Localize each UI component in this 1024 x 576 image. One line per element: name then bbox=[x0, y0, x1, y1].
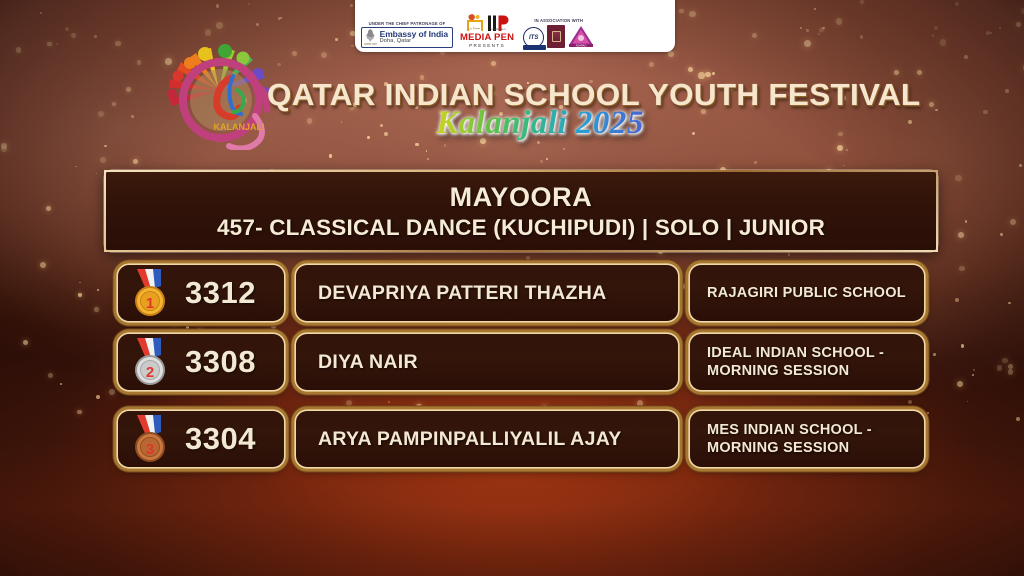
participant-name: DIYA NAIR bbox=[318, 351, 418, 374]
gold-medal-icon: 1 bbox=[128, 268, 174, 318]
silver-medal-icon: 2 bbox=[128, 337, 174, 387]
rank-card: 2 3308 bbox=[118, 334, 284, 390]
table-row: 3 3304 ARYA PAMPINPALLIYALIL AJAY MES IN… bbox=[118, 411, 924, 467]
event-header-card: MAYOORA 457- CLASSICAL DANCE (KUCHIPUDI)… bbox=[104, 170, 938, 252]
school-card: RAJAGIRI PUBLIC SCHOOL bbox=[690, 265, 924, 321]
school-card: IDEAL INDIAN SCHOOL - MORNING SESSION bbox=[690, 334, 924, 390]
association-block: IN ASSOCIATION WITH ITS ASHRAO bbox=[523, 18, 594, 48]
media-pen-arabic-icon: ميديا بن bbox=[464, 14, 484, 33]
svg-text:2: 2 bbox=[146, 364, 154, 381]
association-logos: ITS ASHRAO bbox=[523, 25, 594, 48]
embassy-motto: सत्यमेव जयते bbox=[364, 42, 377, 46]
participant-code: 3308 bbox=[185, 344, 256, 380]
table-row: 1 3312 DEVAPRIYA PATTERI THAZHA RAJAGIRI… bbox=[118, 265, 924, 321]
kalanjali-logo-icon: KALANJALI bbox=[163, 44, 279, 150]
india-emblem-icon bbox=[365, 29, 376, 42]
ashrao-logo-icon: ASHRAO bbox=[568, 25, 594, 48]
participant-card: ARYA PAMPINPALLIYALIL AJAY bbox=[296, 411, 678, 467]
svg-text:media pen: media pen bbox=[492, 27, 506, 31]
page-subtitle: Kalanjali 2025 bbox=[275, 105, 805, 142]
association-caption: IN ASSOCIATION WITH bbox=[534, 18, 583, 23]
embassy-block: UNDER THE CHIEF PATRONAGE OF सत्यमेव जयत… bbox=[361, 21, 453, 48]
school-card: MES INDIAN SCHOOL - MORNING SESSION bbox=[690, 411, 924, 467]
rank-card: 3 3304 bbox=[118, 411, 284, 467]
poster-stage: UNDER THE CHIEF PATRONAGE OF सत्यमेव जयत… bbox=[0, 0, 1024, 576]
patronage-caption: UNDER THE CHIEF PATRONAGE OF bbox=[369, 21, 446, 26]
participant-card: DIYA NAIR bbox=[296, 334, 678, 390]
media-pen-latin-icon: media pen bbox=[487, 14, 510, 33]
svg-text:ميديا بن: ميديا بن bbox=[468, 25, 480, 30]
school-name: RAJAGIRI PUBLIC SCHOOL bbox=[707, 284, 906, 302]
embassy-location: Doha, Qatar bbox=[380, 39, 448, 45]
presenter-sub: PRESENTS bbox=[469, 43, 505, 48]
stage-name: MAYOORA bbox=[450, 182, 593, 213]
participant-code: 3312 bbox=[185, 275, 256, 311]
participant-code: 3304 bbox=[185, 421, 256, 457]
rank-card: 1 3312 bbox=[118, 265, 284, 321]
presenter-name: MEDIA PEN bbox=[460, 33, 514, 43]
participant-name: ARYA PAMPINPALLIYALIL AJAY bbox=[318, 428, 622, 451]
svg-text:3: 3 bbox=[146, 441, 154, 458]
school-name: IDEAL INDIAN SCHOOL - MORNING SESSION bbox=[707, 344, 924, 380]
its-logo-icon: ITS bbox=[523, 27, 544, 48]
school-name: MES INDIAN SCHOOL - MORNING SESSION bbox=[707, 421, 924, 457]
sponsor-bar: UNDER THE CHIEF PATRONAGE OF सत्यमेव जयत… bbox=[355, 0, 675, 52]
svg-text:KALANJALI: KALANJALI bbox=[214, 122, 265, 132]
presenter-block: ميديا بن media pen MEDIA PEN PRESENTS bbox=[460, 14, 514, 49]
svg-text:ASHRAO: ASHRAO bbox=[576, 45, 587, 48]
event-line: 457- CLASSICAL DANCE (KUCHIPUDI) | SOLO … bbox=[217, 215, 825, 241]
maroon-crest-logo-icon bbox=[547, 25, 565, 48]
embassy-badge: सत्यमेव जयते Embassy of India Doha, Qata… bbox=[361, 27, 453, 48]
table-row: 2 3308 DIYA NAIR IDEAL INDIAN SCHOOL - M… bbox=[118, 334, 924, 390]
bronze-medal-icon: 3 bbox=[128, 414, 174, 464]
svg-text:1: 1 bbox=[146, 295, 154, 312]
participant-card: DEVAPRIYA PATTERI THAZHA bbox=[296, 265, 678, 321]
participant-name: DEVAPRIYA PATTERI THAZHA bbox=[318, 282, 607, 305]
media-pen-logos: ميديا بن media pen bbox=[464, 14, 510, 33]
